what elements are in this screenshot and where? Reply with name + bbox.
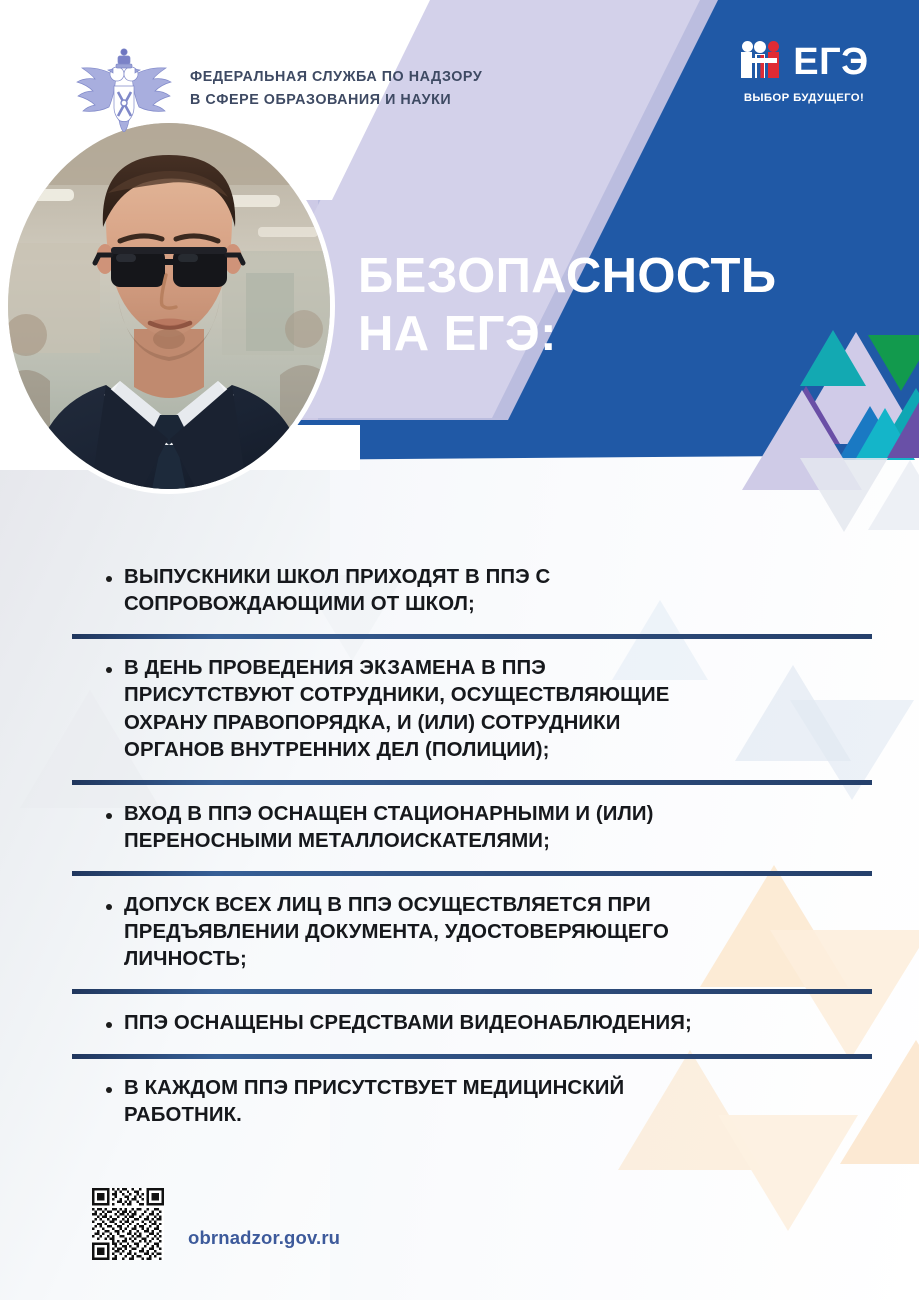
decor-triangle-green [868,335,919,391]
list-item: В КАЖДОМ ППЭ ПРИСУТСТВУЕТ МЕДИЦИНСКИЙ РА… [72,1059,872,1145]
list-item-text: ППЭ ОСНАЩЕНЫ СРЕДСТВАМИ ВИДЕОНАБЛЮДЕНИЯ; [124,1010,692,1037]
safety-rules-list: ВЫПУСКНИКИ ШКОЛ ПРИХОДЯТ В ППЭ С СОПРОВО… [72,548,872,1145]
bullet-dot-icon [106,576,112,582]
ege-wordmark: ЕГЭ [793,43,868,81]
bullet-dot-icon [106,1087,112,1093]
website-link[interactable]: obrnadzor.gov.ru [188,1227,340,1249]
list-item-text: В КАЖДОМ ППЭ ПРИСУТСТВУЕТ МЕДИЦИНСКИЙ РА… [124,1075,624,1129]
bullet-dot-icon [106,667,112,673]
decor-triangle-purple-2 [887,402,919,458]
security-guard-photo [8,123,330,489]
decor-triangle-teal-1 [800,330,866,386]
decor-triangle-grey-below-2 [868,460,919,530]
agency-line-1: ФЕДЕРАЛЬНАЯ СЛУЖБА ПО НАДЗОРУ [190,69,482,85]
poster-root: ФЕДЕРАЛЬНАЯ СЛУЖБА ПО НАДЗОРУВ СФЕРЕ ОБР… [0,0,919,1300]
list-item: ВХОД В ППЭ ОСНАЩЕН СТАЦИОНАРНЫМИ И (ИЛИ)… [72,785,872,871]
ege-logo: ЕГЭ ВЫБОР БУДУЩЕГО! [724,38,884,104]
list-item-text: ВЫПУСКНИКИ ШКОЛ ПРИХОДЯТ В ППЭ С СОПРОВО… [124,564,550,618]
list-item-text: ВХОД В ППЭ ОСНАЩЕН СТАЦИОНАРНЫМИ И (ИЛИ)… [124,801,654,855]
page-title: БЕЗОПАСНОСТЬ НА ЕГЭ: [358,248,776,364]
page-title-line-2: НА ЕГЭ: [358,307,557,361]
list-item: ДОПУСК ВСЕХ ЛИЦ В ППЭ ОСУЩЕСТВЛЯЕТСЯ ПРИ… [72,876,872,989]
list-item: ВЫПУСКНИКИ ШКОЛ ПРИХОДЯТ В ППЭ С СОПРОВО… [72,548,872,634]
list-item-text: В ДЕНЬ ПРОВЕДЕНИЯ ЭКЗАМЕНА В ППЭ ПРИСУТС… [124,655,670,764]
qr-code-icon[interactable] [92,1188,164,1260]
agency-line-2: В СФЕРЕ ОБРАЗОВАНИЯ И НАУКИ [190,92,451,108]
page-title-line-1: БЕЗОПАСНОСТЬ [358,249,776,303]
bullet-dot-icon [106,904,112,910]
agency-name: ФЕДЕРАЛЬНАЯ СЛУЖБА ПО НАДЗОРУВ СФЕРЕ ОБР… [190,66,482,112]
ege-tagline: ВЫБОР БУДУЩЕГО! [724,92,884,104]
list-item: ППЭ ОСНАЩЕНЫ СРЕДСТВАМИ ВИДЕОНАБЛЮДЕНИЯ; [72,994,872,1053]
ege-people-logo-icon [739,38,789,85]
footer: obrnadzor.gov.ru [92,1188,340,1260]
bullet-dot-icon [106,1022,112,1028]
ege-logo-row: ЕГЭ [724,38,884,85]
list-item-text: ДОПУСК ВСЕХ ЛИЦ В ППЭ ОСУЩЕСТВЛЯЕТСЯ ПРИ… [124,892,669,973]
list-item: В ДЕНЬ ПРОВЕДЕНИЯ ЭКЗАМЕНА В ППЭ ПРИСУТС… [72,639,872,780]
bullet-dot-icon [106,813,112,819]
agency-branding: ФЕДЕРАЛЬНАЯ СЛУЖБА ПО НАДЗОРУВ СФЕРЕ ОБР… [72,46,482,132]
double-headed-eagle-emblem-icon [72,46,176,132]
